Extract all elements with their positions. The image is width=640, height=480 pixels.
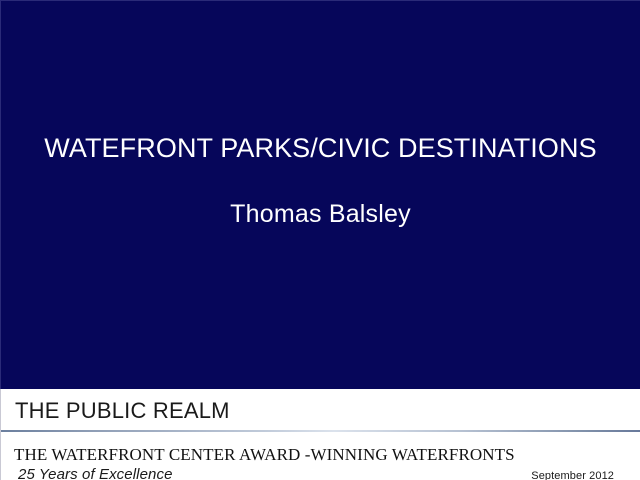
slide-hero-content: WATEFRONT PARKS/CIVIC DESTINATIONS Thoma… xyxy=(1,1,640,389)
footer-section-heading: THE PUBLIC REALM xyxy=(15,398,230,424)
slide-subtitle-presenter: Thomas Balsley xyxy=(1,199,640,229)
footer-divider xyxy=(1,430,640,432)
footer-organization-name: THE WATERFRONT CENTER AWARD -WINNING WAT… xyxy=(14,445,515,465)
footer-tagline: 25 Years of Excellence xyxy=(18,466,173,480)
presentation-slide: WATEFRONT PARKS/CIVIC DESTINATIONS Thoma… xyxy=(0,0,640,480)
slide-hero-panel: WATEFRONT PARKS/CIVIC DESTINATIONS Thoma… xyxy=(0,0,640,389)
footer-date: September 2012 xyxy=(531,469,614,480)
slide-footer: THE PUBLIC REALM THE WATERFRONT CENTER A… xyxy=(0,389,640,480)
page-title: WATEFRONT PARKS/CIVIC DESTINATIONS xyxy=(1,132,640,164)
